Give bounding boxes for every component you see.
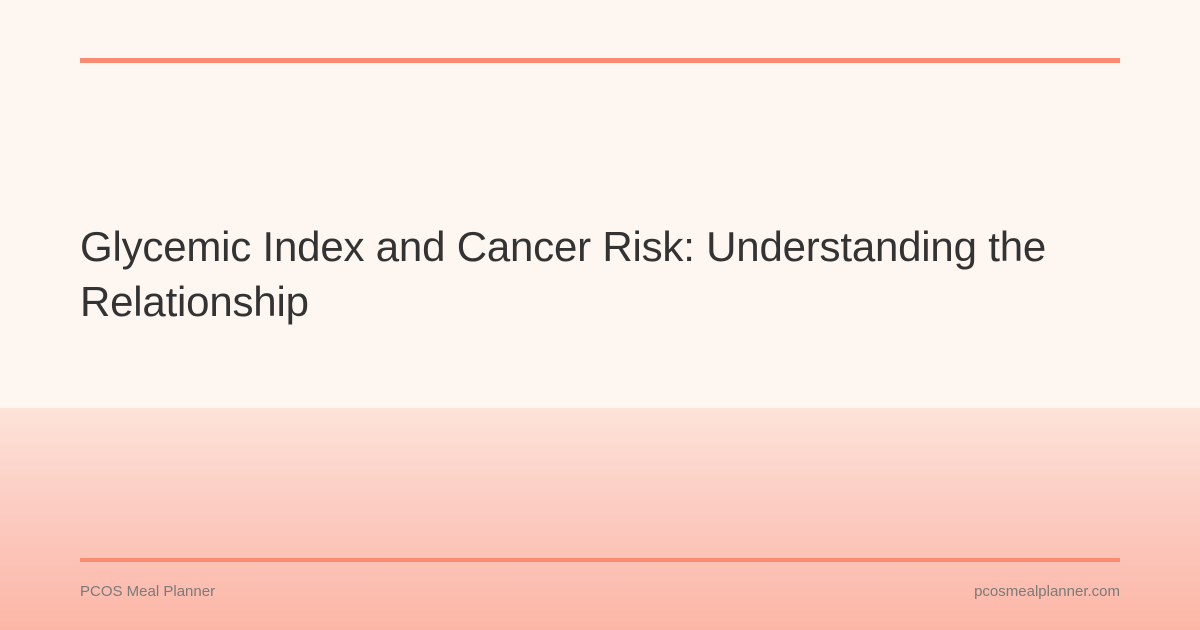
article-title-line-1: Glycemic Index and Cancer Risk: Understa… bbox=[80, 223, 977, 270]
social-share-card: Glycemic Index and Cancer Risk: Understa… bbox=[0, 0, 1200, 630]
footer-brand-label: PCOS Meal Planner bbox=[80, 583, 215, 600]
page-title: Glycemic Index and Cancer Risk: Understa… bbox=[80, 219, 1100, 329]
card-footer: PCOS Meal Planner pcosmealplanner.com bbox=[80, 578, 1120, 604]
footer-divider-rule bbox=[80, 558, 1120, 562]
top-accent-rule bbox=[80, 58, 1120, 63]
article-title: Glycemic Index and Cancer Risk: Understa… bbox=[80, 219, 1100, 329]
footer-website-url: pcosmealplanner.com bbox=[974, 583, 1120, 600]
